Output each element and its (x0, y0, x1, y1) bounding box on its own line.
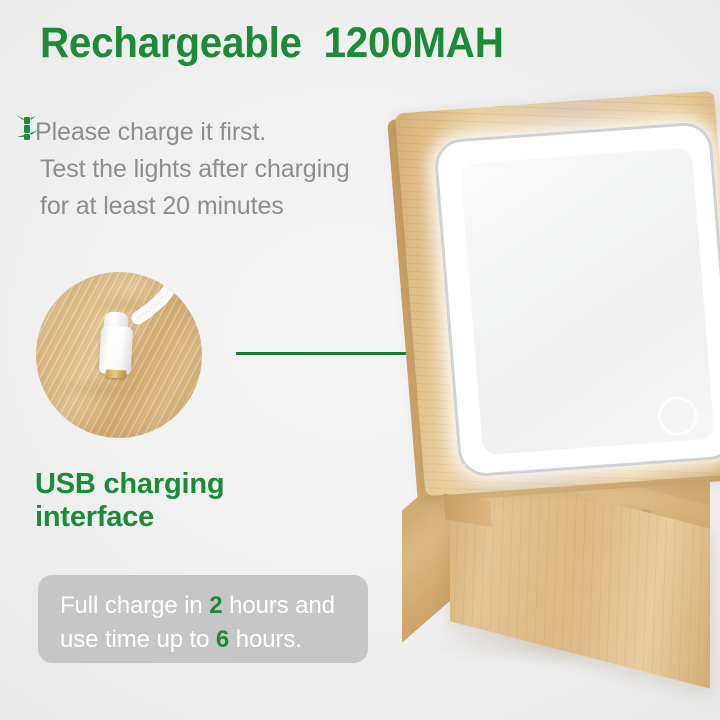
instruction-line-1: Please charge it first. (35, 114, 395, 151)
callout-line-1: Full charge in 2 hours and (60, 589, 368, 623)
usb-label-line-2: interface (35, 501, 224, 534)
use-time-hours-value: 6 (216, 626, 229, 653)
product-photo (380, 80, 720, 720)
touch-sensor-button[interactable] (657, 396, 698, 437)
callout-line1-suffix: hours and (223, 592, 335, 619)
mirror-bamboo-frame (395, 91, 720, 497)
usb-closeup-inset (36, 272, 202, 438)
callout-line1-prefix: Full charge in (60, 592, 209, 619)
page-title: Rechargeable 1200MAH (40, 18, 504, 68)
instructions-text: Please charge it first. Test the lights … (35, 114, 395, 225)
usb-label-line-1: USB charging (35, 468, 224, 501)
usb-interface-label: USB charging interface (35, 468, 224, 534)
led-mirror-assembly (382, 87, 720, 509)
callout-line2-prefix: use time up to (60, 626, 216, 653)
battery-callout-box: Full charge in 2 hours and use time up t… (38, 575, 368, 663)
callout-line-2: use time up to 6 hours. (60, 623, 368, 657)
instruction-line-2: Test the lights after charging (35, 151, 395, 188)
led-light-ring (433, 121, 720, 478)
inset-shading-overlay (36, 272, 202, 438)
callout-line2-suffix: hours. (229, 626, 302, 653)
instruction-line-3: for at least 20 minutes (35, 188, 395, 225)
product-feature-poster: Rechargeable 1200MAH Please charge it fi… (0, 0, 720, 720)
full-charge-hours-value: 2 (209, 592, 222, 619)
mirror-glass-surface (460, 147, 715, 455)
